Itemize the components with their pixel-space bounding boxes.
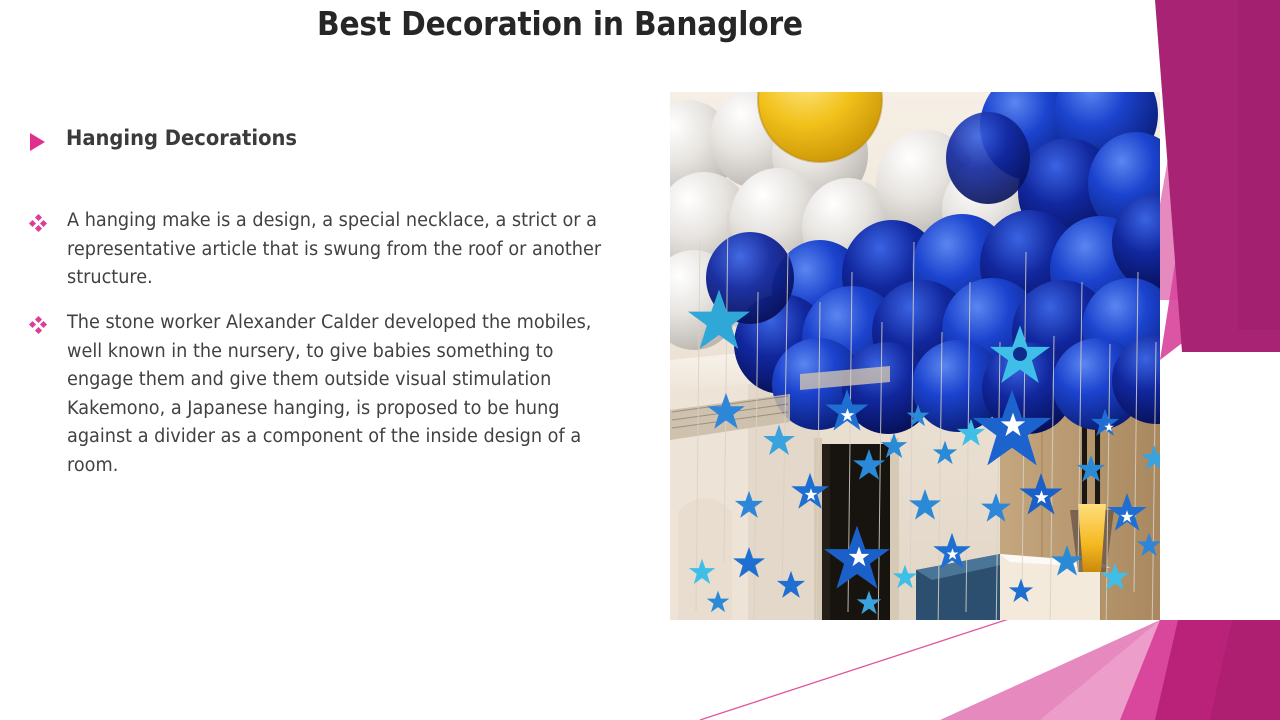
ribbon-top-right-magenta <box>1155 0 1280 352</box>
ribbon-bottom-right-pink <box>1120 620 1280 720</box>
hairline-diagonal <box>700 612 1030 720</box>
title-block: Best Decoration in Banaglore <box>0 0 1120 46</box>
list-item: A hanging make is a design, a special ne… <box>30 207 644 293</box>
ribbon-top-right-light-pink <box>1143 0 1280 300</box>
list-item: The stone worker Alexander Calder develo… <box>30 309 644 480</box>
triangle-bullet-icon <box>30 133 48 151</box>
diamond-bullet-icon <box>30 215 46 231</box>
slide-canvas: Best Decoration in Banaglore Hanging Dec… <box>0 0 1280 720</box>
heading-bullet-label: Hanging Decorations <box>66 126 297 151</box>
ribbon-top-right-pink <box>1160 0 1280 360</box>
ribbon-bottom-right-magenta <box>1155 620 1280 720</box>
ribbon-bottom-right-pale <box>1040 620 1280 720</box>
heading-bullet-item: Hanging Decorations <box>30 126 644 151</box>
ribbon-bottom-right-light-pink <box>940 620 1280 720</box>
list-item-text: A hanging make is a design, a special ne… <box>67 207 618 293</box>
list-item-text: The stone worker Alexander Calder develo… <box>67 309 618 480</box>
page-title: Best Decoration in Banaglore <box>317 7 803 40</box>
diamond-bullet-icon <box>30 317 46 333</box>
ribbon-bottom-right-magenta-deep <box>1210 620 1280 720</box>
ribbon-top-right-magenta-dark <box>1238 0 1280 330</box>
decoration-photo <box>670 92 1160 620</box>
content-body: Hanging Decorations A hanging make is a … <box>30 126 644 496</box>
